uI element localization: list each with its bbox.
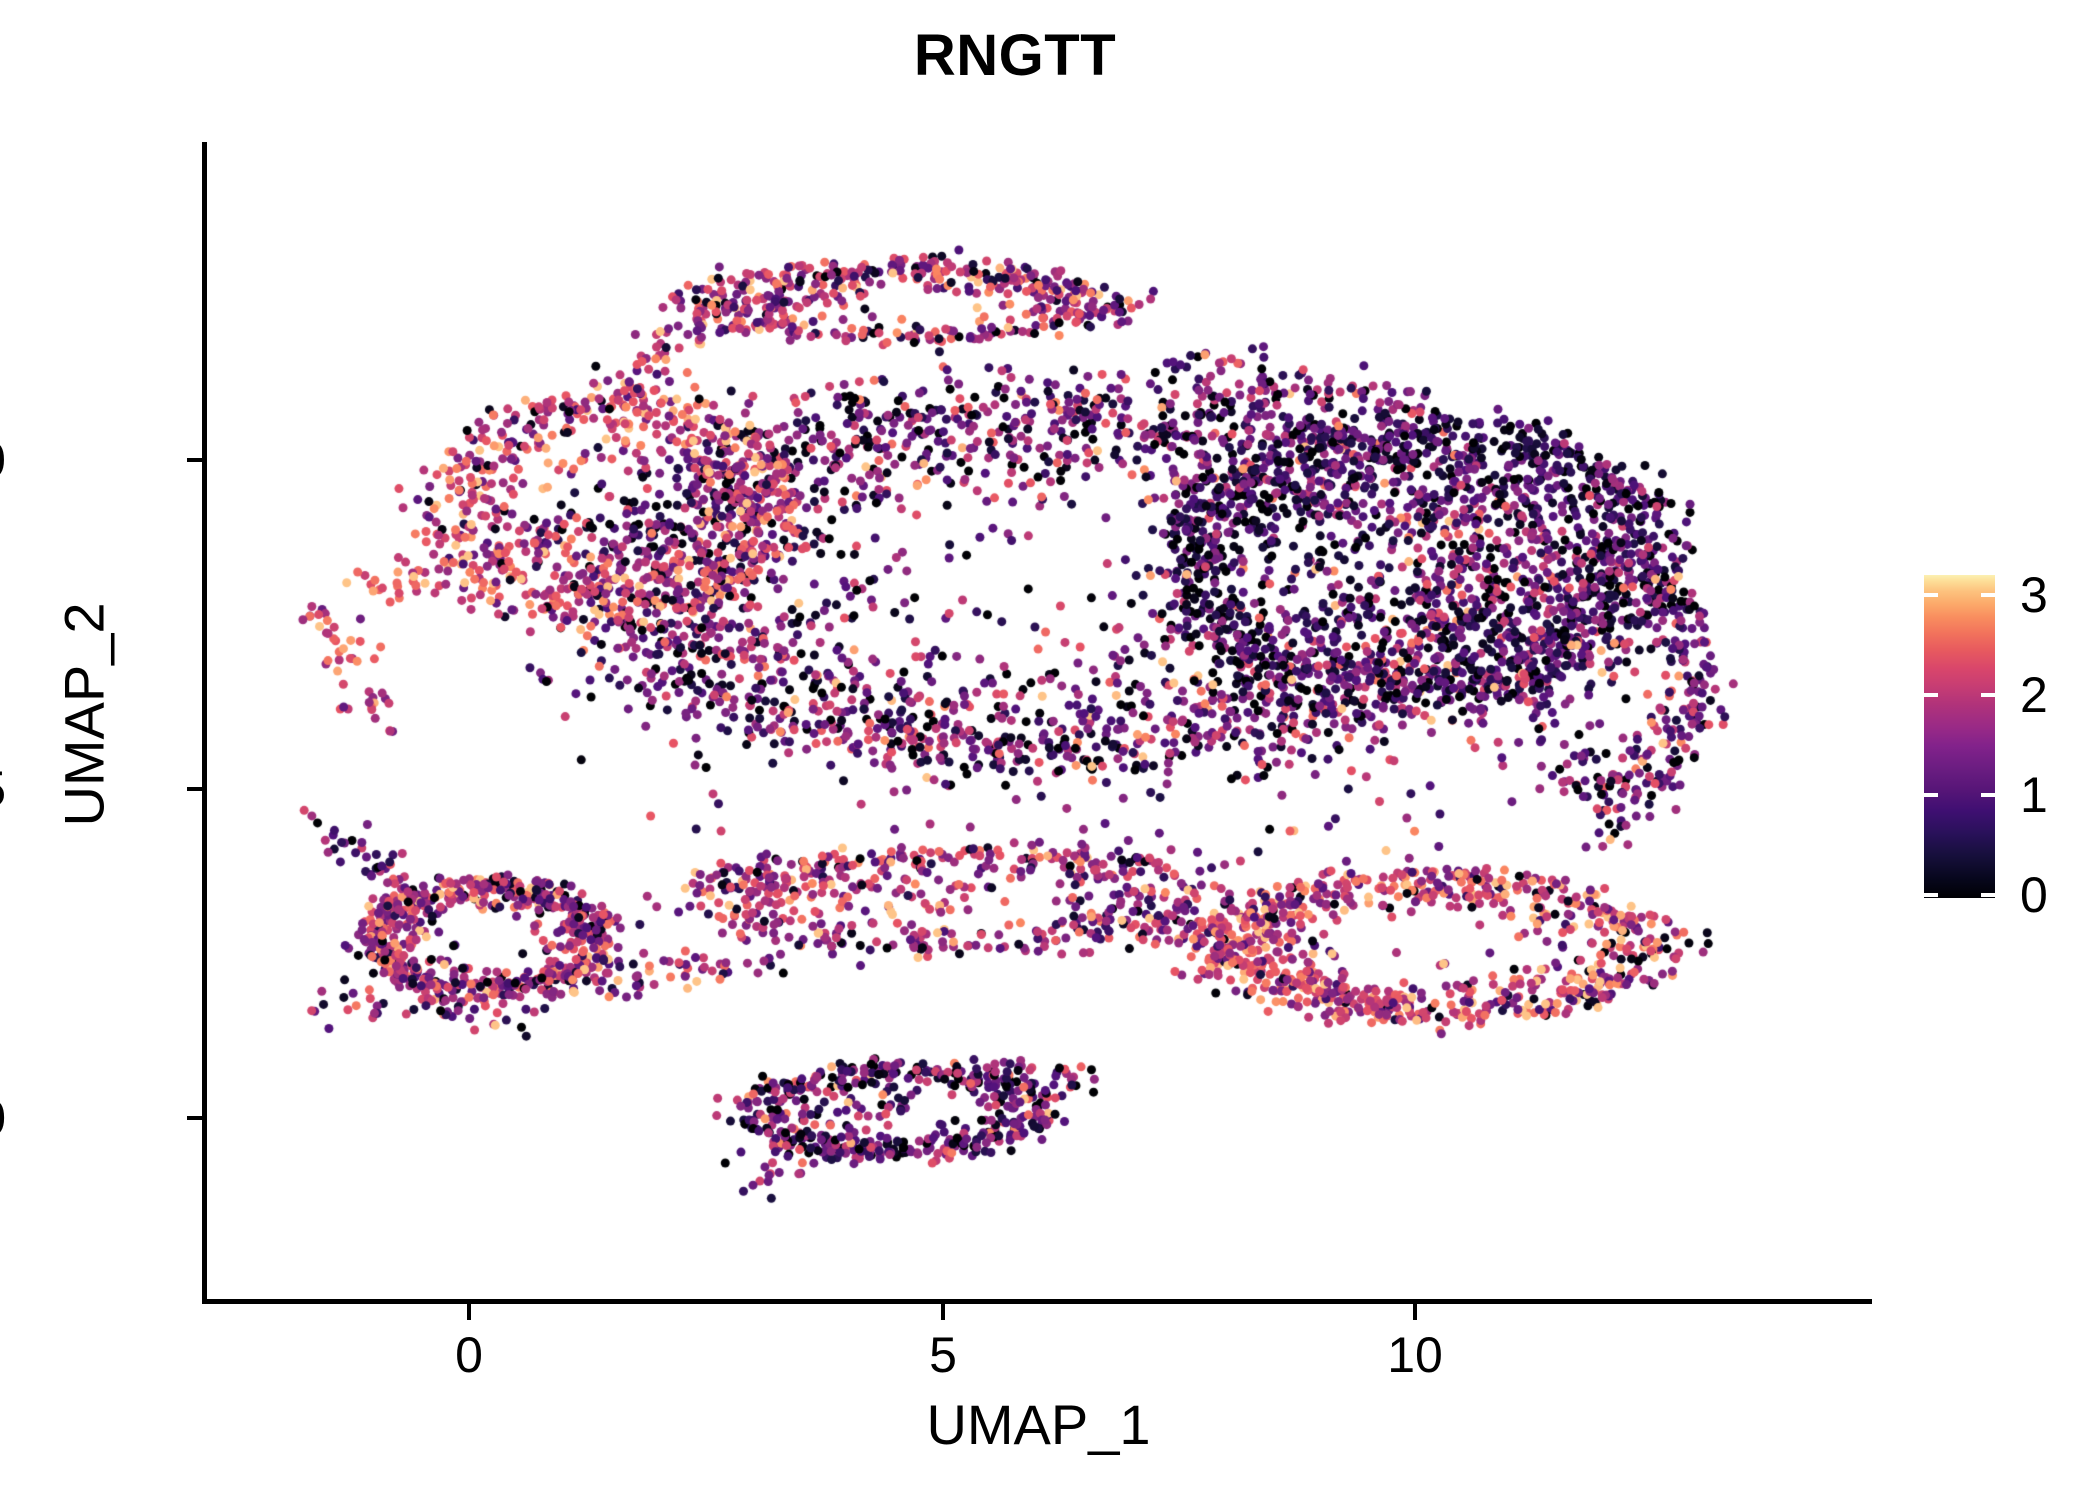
plot-panel <box>205 142 1872 1302</box>
colorbar-gradient <box>1924 575 1995 898</box>
colorbar-tick-2-left <box>1924 693 1938 697</box>
y-tick-label-10: 10 <box>0 431 6 489</box>
x-tick-mark-5 <box>941 1304 945 1320</box>
y-tick-mark-5 <box>187 787 203 791</box>
x-tick-mark-0 <box>467 1304 471 1320</box>
x-axis-title: UMAP_1 <box>205 1392 1872 1457</box>
x-tick-label-0: 0 <box>455 1326 483 1384</box>
colorbar-tick-0-right <box>1981 893 1995 897</box>
umap-feature-plot: RNGTT 10 5 0 0 5 10 UMAP_1 UMAP_2 3 2 1 … <box>0 0 2100 1500</box>
colorbar-tick-2-right <box>1981 693 1995 697</box>
colorbar-tick-3-left <box>1924 593 1938 597</box>
colorbar-label-3: 3 <box>2020 566 2048 624</box>
x-axis-line <box>205 1299 1872 1304</box>
page-title: RNGTT <box>0 22 2030 89</box>
y-tick-label-0: 0 <box>0 1089 6 1147</box>
y-axis-title: UMAP_2 <box>52 365 117 1065</box>
x-tick-label-5: 5 <box>929 1326 957 1384</box>
x-tick-mark-10 <box>1413 1304 1417 1320</box>
y-axis-line <box>202 142 207 1304</box>
y-tick-mark-0 <box>187 1116 203 1120</box>
scatter-plot-canvas <box>205 142 1872 1302</box>
x-tick-label-10: 10 <box>1387 1326 1443 1384</box>
colorbar-tick-1-left <box>1924 793 1938 797</box>
y-tick-mark-10 <box>187 458 203 462</box>
y-tick-label-5: 5 <box>0 760 6 818</box>
colorbar-tick-0-left <box>1924 893 1938 897</box>
colorbar-label-2: 2 <box>2020 666 2048 724</box>
colorbar-tick-3-right <box>1981 593 1995 597</box>
colorbar-label-0: 0 <box>2020 866 2048 924</box>
colorbar-tick-1-right <box>1981 793 1995 797</box>
colorbar-label-1: 1 <box>2020 766 2048 824</box>
